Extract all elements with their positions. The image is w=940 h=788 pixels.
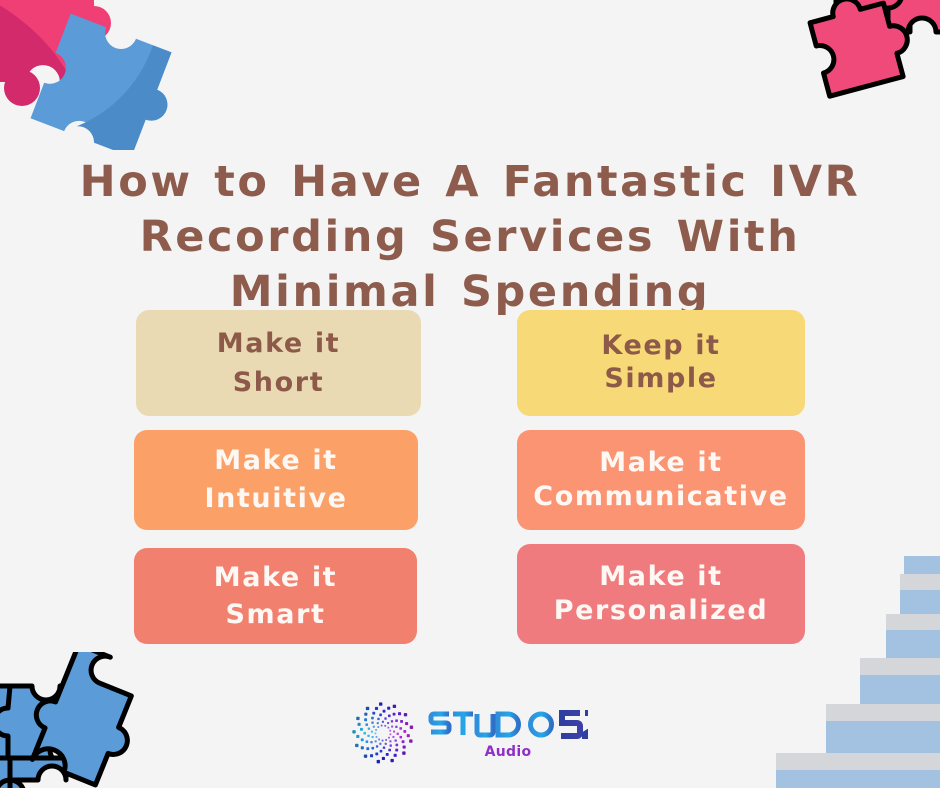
studio-52-wordmark [428,708,588,742]
tip-card-personalized[interactable]: Make it Personalized [517,544,805,644]
tip-card-short[interactable]: Make it Short [136,310,421,416]
poster-canvas: How to Have A Fantastic IVR Recording Se… [0,0,940,788]
logo-text-group: Audio [428,708,588,759]
puzzle-pieces-outline-icon [806,0,940,104]
puzzle-pieces-icon [0,0,186,150]
logo-tagline: Audio [485,745,532,759]
tip-card-smart[interactable]: Make it Smart [134,548,417,644]
brand-logo[interactable]: Audio [0,697,940,769]
tip-card-communicative[interactable]: Make it Communicative [517,430,805,530]
tips-card-grid: Make it Short Keep it Simple Make it Int… [0,310,940,640]
radial-dot-spiral-icon [352,702,414,764]
tip-card-intuitive[interactable]: Make it Intuitive [134,430,418,530]
tip-card-simple[interactable]: Keep it Simple [517,310,805,416]
page-title: How to Have A Fantastic IVR Recording Se… [60,155,880,320]
